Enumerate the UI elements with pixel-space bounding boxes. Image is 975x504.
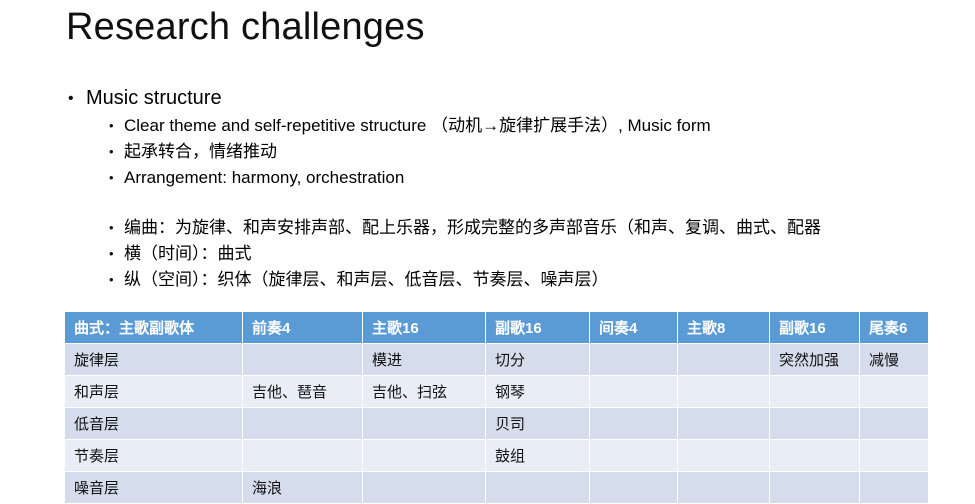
table-cell (243, 440, 363, 472)
bullet-item-bianqu: • 编曲：为旋律、和声安排声部、配上乐器，形成完整的多声部音乐（和声、复调、曲式… (64, 215, 969, 241)
table-cell (678, 376, 770, 408)
table-header-cell: 副歌16 (486, 312, 590, 344)
bullet-text: 编曲：为旋律、和声安排声部、配上乐器，形成完整的多声部音乐（和声、复调、曲式、配… (124, 215, 821, 241)
table-cell (770, 408, 860, 440)
table-cell: 噪音层 (65, 472, 243, 504)
table-cell: 吉他、扫弦 (363, 376, 486, 408)
bullet-text: 纵（空间）：织体（旋律层、和声层、低音层、节奏层、噪声层） (124, 267, 609, 293)
bullet-item-zong-kongjian: • 纵（空间）：织体（旋律层、和声层、低音层、节奏层、噪声层） (64, 267, 969, 293)
table-cell (590, 440, 678, 472)
table-cell (590, 376, 678, 408)
table-header-cell: 曲式：主歌副歌体 (65, 312, 243, 344)
bullet-text: Arrangement: harmony, orchestration (124, 165, 404, 191)
table-cell: 模进 (363, 344, 486, 376)
table-header-cell: 间奏4 (590, 312, 678, 344)
table-header-cell: 前奏4 (243, 312, 363, 344)
content-body: • Music structure • Clear theme and self… (64, 84, 969, 293)
table-row: 节奏层 鼓组 (65, 440, 929, 472)
table-header-cell: 尾奏6 (860, 312, 929, 344)
table-cell (678, 408, 770, 440)
table-cell (860, 472, 929, 504)
table-cell: 节奏层 (65, 440, 243, 472)
table-cell (770, 440, 860, 472)
bullet-item-qichengzhuanhe: • 起承转合，情绪推动 (64, 139, 969, 165)
table-cell: 低音层 (65, 408, 243, 440)
table-header-row: 曲式：主歌副歌体 前奏4 主歌16 副歌16 间奏4 主歌8 副歌16 尾奏6 (65, 312, 929, 344)
table-cell (860, 408, 929, 440)
table-cell: 突然加强 (770, 344, 860, 376)
page-title: Research challenges (66, 4, 425, 52)
table-cell: 减慢 (860, 344, 929, 376)
table-header-cell: 主歌8 (678, 312, 770, 344)
table-row: 和声层 吉他、琶音 吉他、扫弦 钢琴 (65, 376, 929, 408)
table-cell (678, 344, 770, 376)
table-cell: 贝司 (486, 408, 590, 440)
table-cell (243, 344, 363, 376)
table-cell: 钢琴 (486, 376, 590, 408)
table-cell (590, 472, 678, 504)
table-cell (486, 472, 590, 504)
table-cell (770, 376, 860, 408)
blank-line-spacer (64, 191, 969, 215)
song-structure-table: 曲式：主歌副歌体 前奏4 主歌16 副歌16 间奏4 主歌8 副歌16 尾奏6 … (64, 311, 929, 504)
table-cell: 鼓组 (486, 440, 590, 472)
table-header-cell: 主歌16 (363, 312, 486, 344)
bullet-marker-icon: • (109, 165, 124, 191)
bullet-item-clear-theme: • Clear theme and self-repetitive struct… (64, 113, 969, 139)
bullet-marker-icon: • (68, 84, 86, 113)
bullet-marker-icon: • (109, 241, 124, 267)
table-cell (243, 408, 363, 440)
table-header-cell: 副歌16 (770, 312, 860, 344)
bullet-item-music-structure: • Music structure (64, 84, 969, 113)
bullet-text: 横（时间）：曲式 (124, 241, 252, 267)
bullet-marker-icon: • (109, 113, 124, 139)
bullet-text: Music structure (86, 84, 222, 113)
bullet-marker-icon: • (109, 267, 124, 293)
table-cell (860, 376, 929, 408)
table-cell (770, 472, 860, 504)
table-cell (363, 440, 486, 472)
table-row: 低音层 贝司 (65, 408, 929, 440)
table-cell: 切分 (486, 344, 590, 376)
table-cell (590, 344, 678, 376)
bullet-text: Clear theme and self-repetitive structur… (124, 113, 711, 139)
table-cell (590, 408, 678, 440)
table-cell (678, 472, 770, 504)
table-cell (363, 472, 486, 504)
table-cell (860, 440, 929, 472)
table-cell: 吉他、琶音 (243, 376, 363, 408)
bullet-marker-icon: • (109, 139, 124, 165)
table-cell (678, 440, 770, 472)
table-row: 噪音层 海浪 (65, 472, 929, 504)
bullet-item-arrangement: • Arrangement: harmony, orchestration (64, 165, 969, 191)
table-cell: 旋律层 (65, 344, 243, 376)
table-cell (363, 408, 486, 440)
table-cell: 海浪 (243, 472, 363, 504)
table-row: 旋律层 模进 切分 突然加强 减慢 (65, 344, 929, 376)
bullet-item-heng-shijian: • 横（时间）：曲式 (64, 241, 969, 267)
table-cell: 和声层 (65, 376, 243, 408)
bullet-marker-icon: • (109, 215, 124, 241)
bullet-text: 起承转合，情绪推动 (124, 139, 277, 165)
